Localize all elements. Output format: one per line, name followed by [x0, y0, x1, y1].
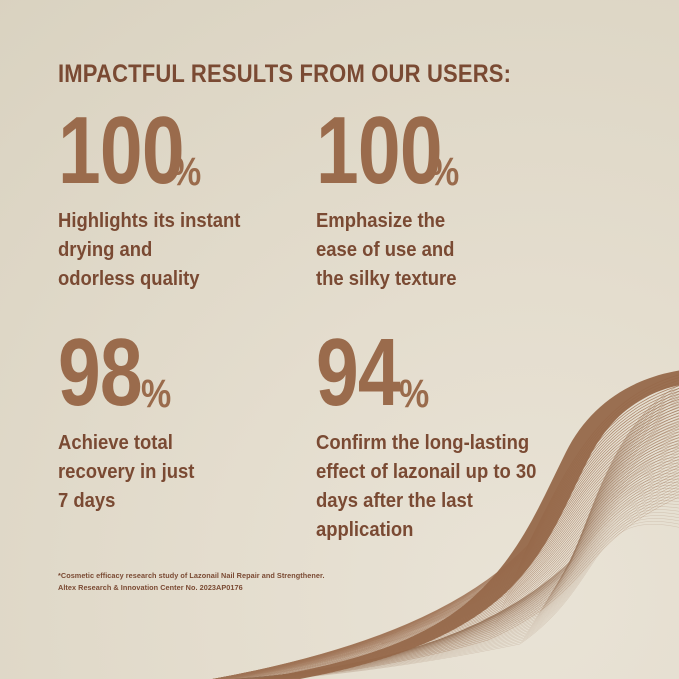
poster-content: IMPACTFUL RESULTS FROM OUR USERS: 100 % … [0, 0, 679, 679]
page-title: IMPACTFUL RESULTS FROM OUR USERS: [58, 60, 511, 89]
stat-block-top-left: 100 % Highlights its instant drying and … [58, 108, 261, 293]
stat-description: Achieve total recovery in just 7 days [58, 428, 194, 515]
poster-canvas: IMPACTFUL RESULTS FROM OUR USERS: 100 % … [0, 0, 679, 679]
stat-unit: % [171, 156, 201, 190]
stat-value: 100 [58, 113, 184, 190]
stat-unit: % [429, 156, 459, 190]
stat-description: Confirm the long-lasting effect of lazon… [316, 428, 586, 544]
stat-value-row: 100 % [58, 108, 261, 190]
stat-description: Highlights its instant drying and odorle… [58, 206, 240, 293]
stat-value-row: 100 % [316, 108, 472, 190]
stat-description: Emphasize the ease of use and the silky … [316, 206, 456, 293]
footnote-disclaimer: *Cosmetic efficacy research study of Laz… [58, 570, 325, 594]
stat-value: 100 [316, 113, 442, 190]
stat-block-bottom-right: 94 % Confirm the long-lasting effect of … [316, 330, 616, 544]
stat-unit: % [141, 378, 171, 412]
stat-value: 98 [58, 335, 142, 412]
stat-value-row: 98 % [58, 330, 210, 412]
stat-value-row: 94 % [316, 330, 616, 412]
stat-value: 94 [316, 335, 400, 412]
stat-unit: % [399, 378, 429, 412]
stat-block-top-right: 100 % Emphasize the ease of use and the … [316, 108, 472, 293]
stat-block-bottom-left: 98 % Achieve total recovery in just 7 da… [58, 330, 210, 515]
